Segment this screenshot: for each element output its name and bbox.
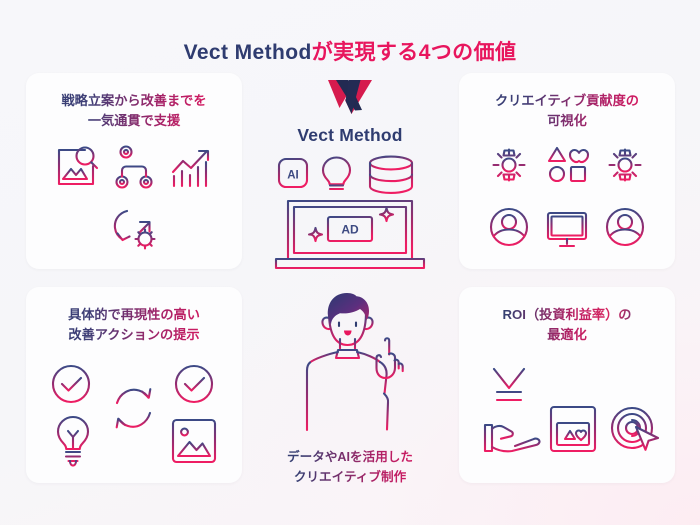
page-title-brand: Vect Method [184,41,312,64]
card-title: 具体的で再現性の高い 改善アクションの提示 [26,287,242,346]
gear-icon [485,141,533,189]
page-title: Vect Methodが実現する4つの価値 [0,36,700,66]
hair-shape [328,293,369,324]
icon-grid [26,359,242,475]
refresh-cycle-icon [98,373,170,445]
laptop-ai-illustration: AI AD [262,152,438,274]
lightbulb-idea-icon [48,411,98,469]
creative-image-window-icon [543,399,603,459]
page-title-rest: が実現する4つの価値 [312,41,517,64]
sparkle-icon [380,208,393,221]
hand-offer-icon [477,407,547,463]
icon-grid [26,137,242,255]
check-circle-icon [169,359,219,409]
brand-logo-block: Vect Method [250,78,450,146]
person-pointing-up-icon [281,282,421,442]
sparkle-icon [309,228,322,241]
target-click-icon [603,397,665,459]
value-card-actions[interactable]: 具体的で再現性の高い 改善アクションの提示 [26,287,242,483]
ai-badge-label: AI [287,170,299,182]
card-title: ROI（投資利益率）の 最適化 [459,287,675,346]
value-card-roi[interactable]: ROI（投資利益率）の 最適化 [459,287,675,483]
image-search-icon [47,138,105,196]
mouth-shape [344,331,352,336]
growth-chart-icon [163,138,221,196]
lightbulb-icon [323,158,350,185]
icon-grid [459,137,675,255]
card-title: クリエイティブ貢献度の 可視化 [459,73,675,132]
monitor-icon [542,202,592,252]
user-avatar-icon [484,202,534,252]
shapes-icon [541,141,593,189]
yen-symbol-icon [482,363,536,413]
center-caption: データやAIを活用した クリエイティブ制作 [245,448,455,487]
brand-wordmark: Vect Method [250,125,450,146]
value-card-strategy[interactable]: 戦略立案から改善までを 一気通貫で支援 [26,73,242,269]
user-avatar-icon [600,202,650,252]
value-card-visualization[interactable]: クリエイティブ貢献度の 可視化 [459,73,675,269]
ad-screen-label: AD [341,223,359,237]
icon-grid [459,363,675,473]
refresh-gear-icon [105,197,163,255]
gear-icon [601,141,649,189]
card-title: 戦略立案から改善までを 一気通貫で支援 [26,73,242,132]
image-icon [167,414,221,468]
check-circle-icon [46,359,96,409]
vect-v-logo-icon [326,78,374,116]
poster-canvas: Vect Methodが実現する4つの価値 戦略立案から改善までを 一気通貫で支… [0,0,700,525]
database-icon [370,157,412,193]
node-branch-icon [105,138,163,196]
